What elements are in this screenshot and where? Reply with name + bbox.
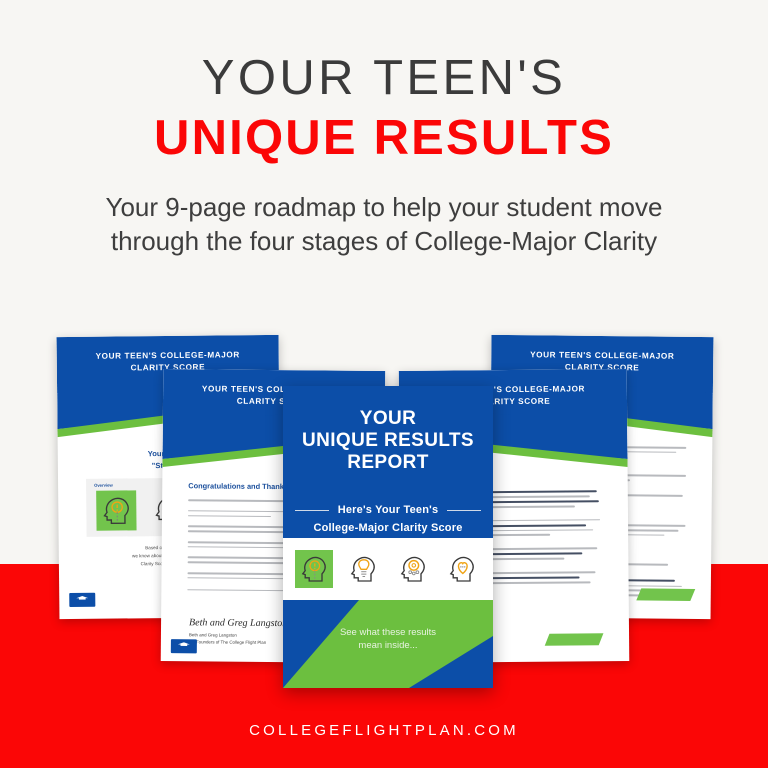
website-url: COLLEGEFLIGHTPLAN.COM <box>0 722 768 739</box>
signature-name: Beth and Greg Langston <box>189 632 237 637</box>
subtitle-text: Your 9-page roadmap to help your student… <box>104 190 664 259</box>
cover-title-line-2: UNIQUE RESULTS <box>302 430 474 451</box>
page-number-tab <box>636 588 695 601</box>
headline-line-2: UNIQUE RESULTS <box>0 111 768 166</box>
headline-line-1: YOUR TEEN'S <box>0 52 768 105</box>
cover-cta-text: See what these results mean inside... <box>283 626 493 653</box>
head-question-icon <box>295 550 333 588</box>
company-logo <box>171 639 197 653</box>
cover-subtitle: Here's Your Teen's College-Major Clarity… <box>283 502 493 538</box>
head-heart-icon <box>443 550 481 588</box>
cover-sub-line-2: College-Major Clarity Score <box>313 522 462 534</box>
cover-title-line-1: YOUR <box>360 408 417 429</box>
head-lightbulb-icon <box>344 550 382 588</box>
cover-title-line-3: REPORT <box>347 452 429 473</box>
cover-bottom-panel: See what these results mean inside... <box>283 600 493 688</box>
signature-role: Co-Founders of The College Flight Plan <box>189 639 266 645</box>
signature-script: Beth and Greg Langston <box>189 617 287 629</box>
signature-caption: Beth and Greg Langston Co-Founders of Th… <box>189 631 266 646</box>
clarity-stage-icons <box>283 538 493 600</box>
company-logo <box>69 593 95 607</box>
cta-line-1: See what these results <box>340 627 436 638</box>
report-cover: YOUR UNIQUE RESULTS REPORT Here's Your T… <box>283 386 493 688</box>
cta-line-2: mean inside... <box>358 640 417 651</box>
promo-graphic: YOUR TEEN'S UNIQUE RESULTS Your 9-page r… <box>0 0 768 768</box>
head-gears-icon <box>394 550 432 588</box>
cover-sub-line-1: Here's Your Teen's <box>338 504 439 516</box>
cover-title: YOUR UNIQUE RESULTS REPORT <box>283 408 493 475</box>
page-number-tab <box>545 633 604 646</box>
headline-block: YOUR TEEN'S UNIQUE RESULTS <box>0 52 768 166</box>
doc-header-line-1: YOUR TEEN'S COLLEGE-MAJOR <box>530 350 674 361</box>
head-question-icon <box>96 490 136 530</box>
doc-header-line-1: YOUR TEEN'S COLLEGE-MAJOR <box>96 350 240 361</box>
overview-label: Overview <box>94 483 113 488</box>
